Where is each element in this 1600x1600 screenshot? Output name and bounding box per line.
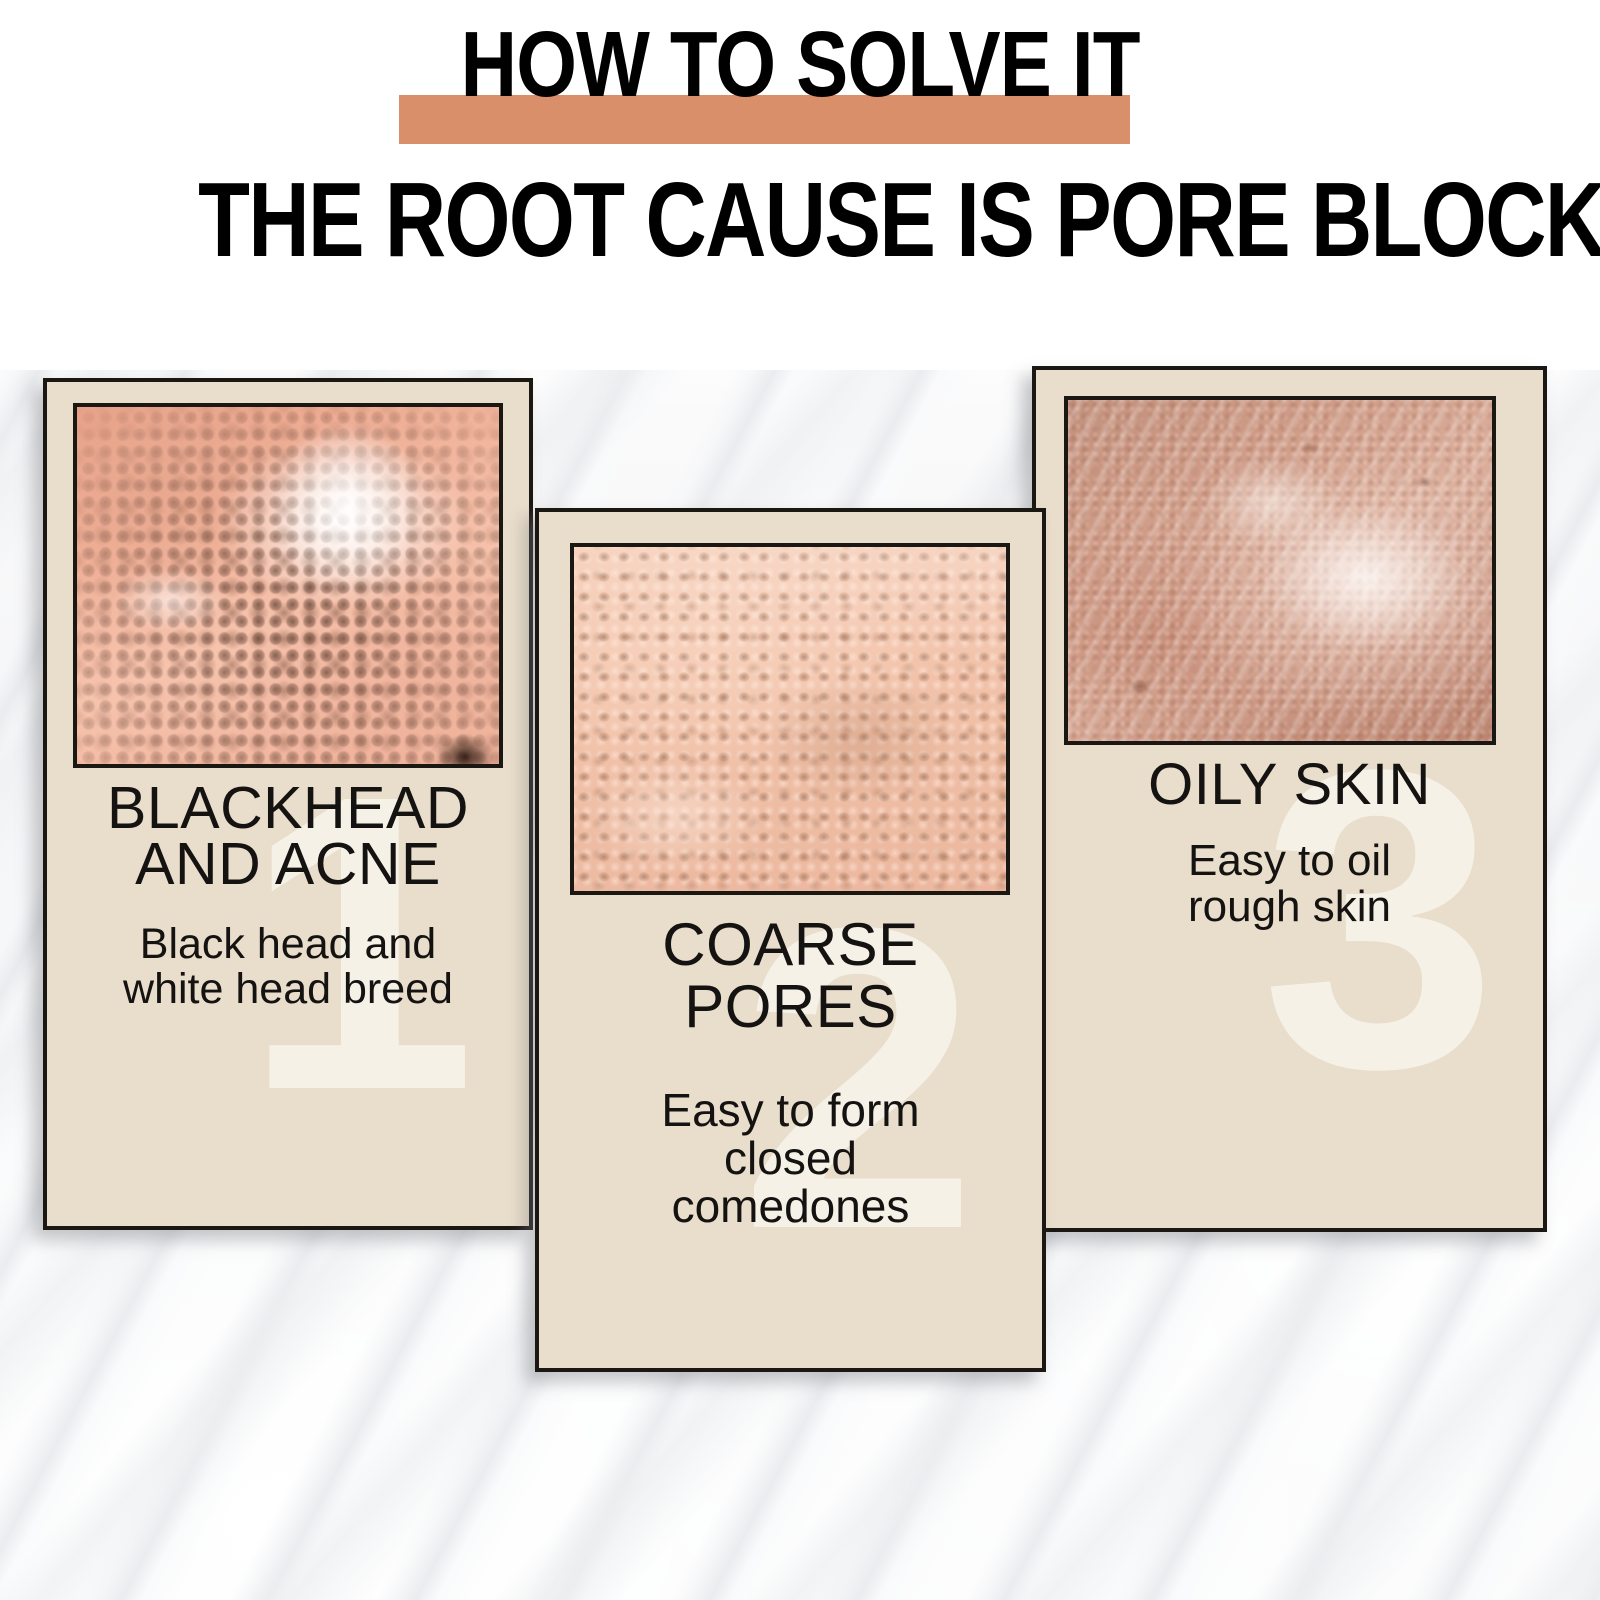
- headline-line-1-row: HOW TO SOLVE IT: [0, 16, 1600, 112]
- card-blackhead-and-acne[interactable]: 1 BLACKHEADAND ACNE Black head andwhite …: [43, 378, 533, 1230]
- card-1-title: BLACKHEADAND ACNE: [47, 780, 529, 892]
- card-oily-skin[interactable]: 3 OILY SKIN Easy to oilrough skin: [1032, 366, 1547, 1232]
- card-1-description: Black head andwhite head breed: [47, 922, 529, 1012]
- card-1-text-block: BLACKHEADAND ACNE Black head andwhite he…: [47, 780, 529, 1012]
- card-3-title: OILY SKIN: [1036, 756, 1543, 814]
- card-2-description: Easy to formclosedcomedones: [539, 1086, 1042, 1230]
- card-2-title: COARSEPORES: [539, 914, 1042, 1038]
- card-3-text-block: OILY SKIN Easy to oilrough skin: [1036, 756, 1543, 930]
- headline-line-1: HOW TO SOLVE IT: [461, 16, 1140, 112]
- card-2-text-block: COARSEPORES Easy to formclosedcomedones: [539, 914, 1042, 1230]
- headline-line-2: THE ROOT CAUSE IS PORE BLOCKAGE: [198, 166, 1600, 274]
- headline-line-2-row: THE ROOT CAUSE IS PORE BLOCKAGE: [0, 166, 1600, 274]
- card-coarse-pores[interactable]: 2 COARSEPORES Easy to formclosedcomedone…: [535, 508, 1046, 1372]
- card-3-description: Easy to oilrough skin: [1036, 838, 1543, 930]
- infographic-page: HOW TO SOLVE IT THE ROOT CAUSE IS PORE B…: [0, 0, 1600, 1600]
